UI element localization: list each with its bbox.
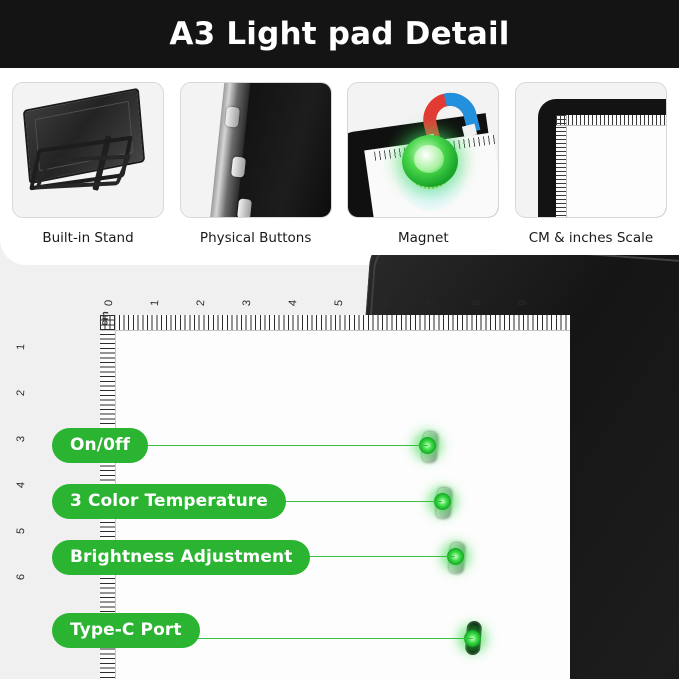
ruler-unit-label: cm (99, 311, 111, 326)
feature-thumbnail (515, 82, 667, 218)
stand-leg-inner-icon (35, 154, 132, 189)
ruler-left-tick: 6 (15, 574, 27, 581)
feature-card-cm-inches-scale[interactable]: CM & inches Scale (515, 82, 667, 240)
feature-card-physical-buttons[interactable]: Physical Buttons (180, 82, 332, 240)
product-detail-page: A3 Light pad Detail Built-in Stand (0, 0, 679, 679)
ruler-left-tick: 1 (15, 344, 27, 351)
ruler-top-tick: 9 (517, 300, 529, 307)
ruler-top-tick: 1 (149, 300, 161, 307)
ruler-top-tick: 8 (471, 300, 483, 307)
ruler-left-tick: 2 (15, 390, 27, 397)
ruler-left-tick: 3 (15, 436, 27, 443)
ruler-top-tick: 3 (241, 300, 253, 307)
scale-top-icon (556, 115, 667, 126)
scale-left-icon (556, 115, 567, 218)
feature-card-magnet[interactable]: Magnet (347, 82, 499, 240)
feature-label: CM & inches Scale (515, 230, 667, 246)
ruler-top-tick: 5 (333, 300, 345, 307)
feature-label: Built-in Stand (12, 230, 164, 246)
ruler-left-tick: 4 (15, 482, 27, 489)
callout-type-c[interactable]: Type-C Port (52, 613, 200, 648)
button-glyph-1-icon (225, 106, 240, 127)
page-header: A3 Light pad Detail (0, 0, 679, 68)
magnet-disc-icon (402, 135, 458, 187)
feature-thumbnail (12, 82, 164, 218)
page-title: A3 Light pad Detail (169, 16, 509, 52)
callout-power[interactable]: On/0ff (52, 428, 148, 463)
pad-surface-icon (556, 115, 667, 218)
feature-card-built-in-stand[interactable]: Built-in Stand (12, 82, 164, 240)
feature-label: Magnet (347, 230, 499, 246)
ruler-scale-top (100, 315, 570, 331)
leader-line-color-temperature (262, 501, 442, 502)
leader-line-type-c (185, 638, 473, 639)
feature-thumbnail (347, 82, 499, 218)
feature-card-list: Built-in Stand Physical Buttons (0, 68, 679, 240)
callout-color-temperature[interactable]: 3 Color Temperature (52, 484, 286, 519)
button-glyph-2-icon (231, 156, 246, 177)
ruler-top-tick: 2 (195, 300, 207, 307)
button-glyph-3-icon (237, 198, 252, 218)
callout-brightness[interactable]: Brightness Adjustment (52, 540, 310, 575)
ruler-top-tick: 4 (287, 300, 299, 307)
feature-panel: Built-in Stand Physical Buttons (0, 68, 679, 265)
ruler-left-tick: 5 (15, 528, 27, 535)
ruler-top-tick: 6 (379, 300, 391, 307)
ruler-top-tick: 7 (425, 300, 437, 307)
feature-thumbnail (180, 82, 332, 218)
ruler-top-tick: 0 (103, 300, 115, 307)
feature-label: Physical Buttons (180, 230, 332, 246)
